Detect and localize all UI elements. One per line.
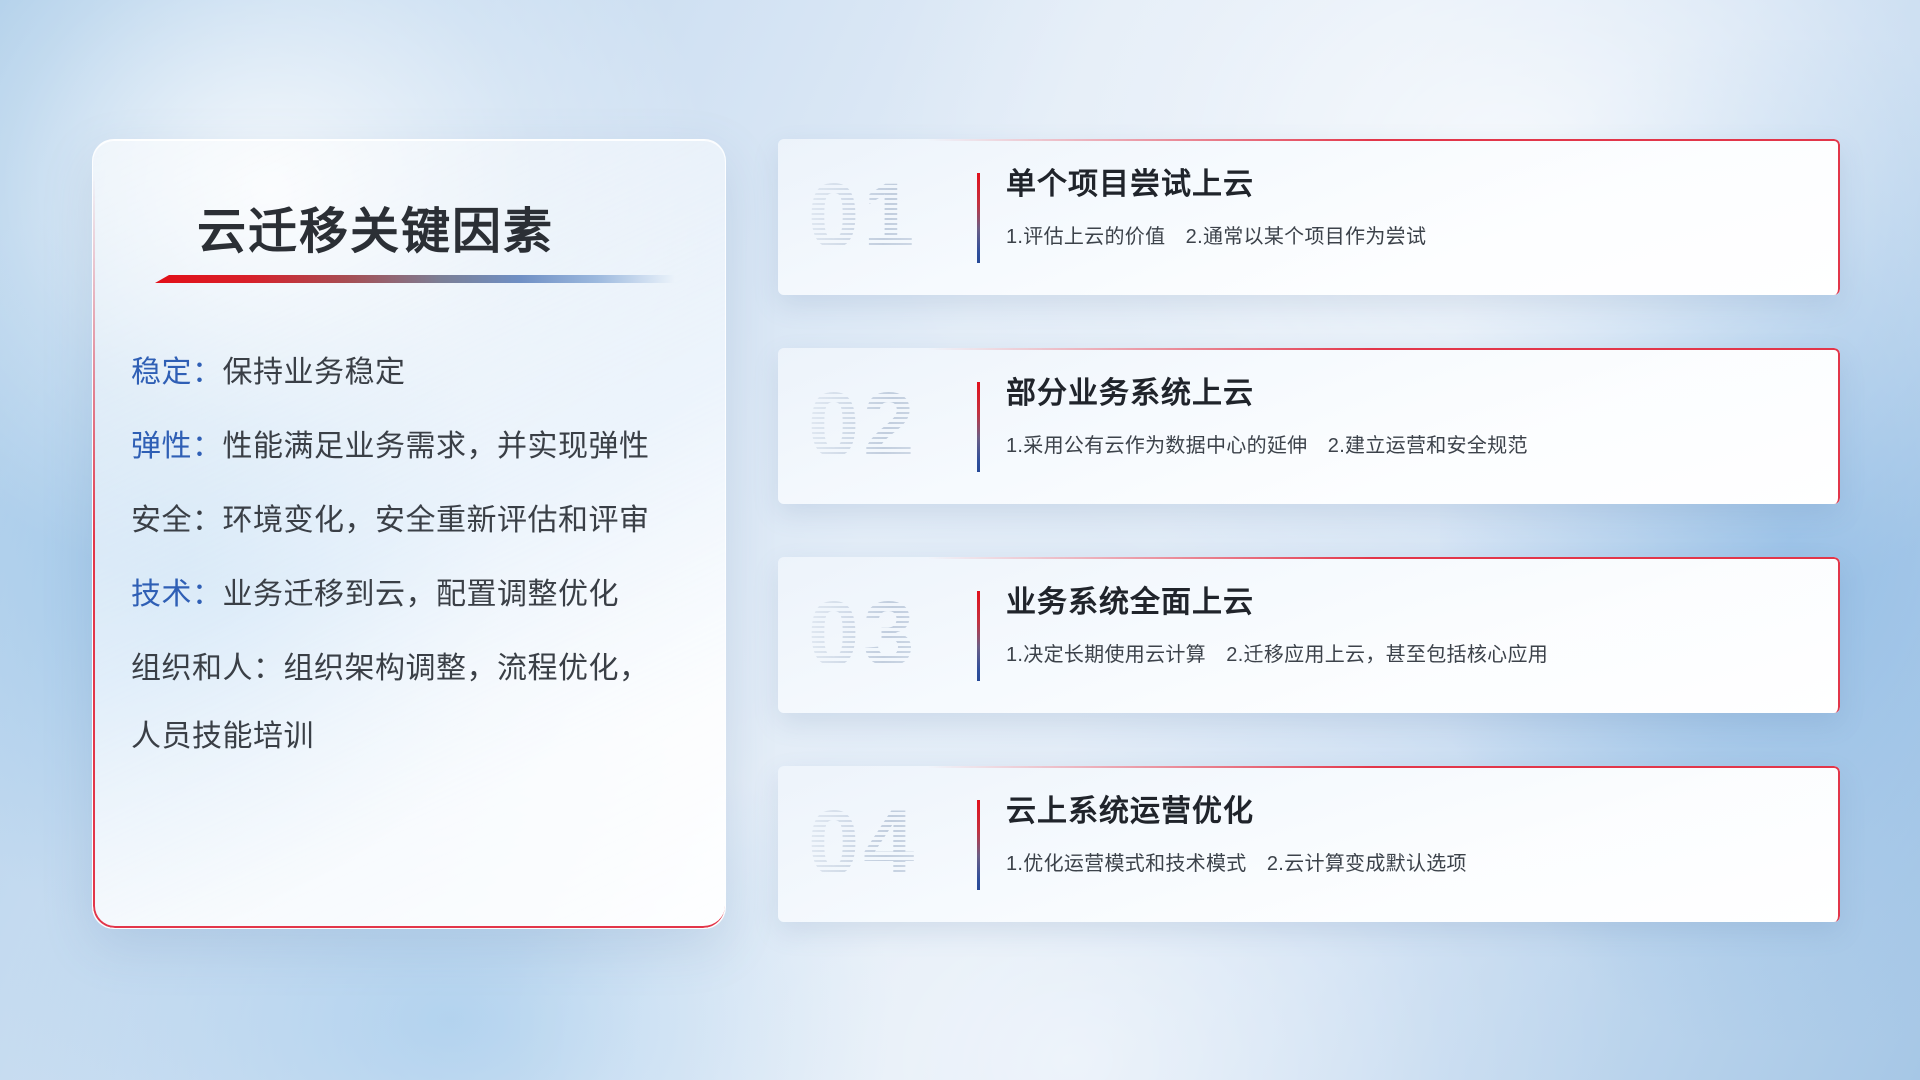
list-item-key: 弹性： [131,430,223,463]
list-item-value: 人员技能培训 [131,720,314,753]
stage-card-03[interactable]: 03 业务系统全面上云 1.决定长期使用云计算 2.迁移应用上云，甚至包括核心应… [778,557,1840,713]
stage-title: 部分业务系统上云 [1006,375,1816,413]
list-item: 技术：业务迁移到云，配置调整优化 [131,580,701,610]
stage-divider [977,173,980,263]
list-item-key: 稳定： [131,356,223,389]
list-item-value: 性能满足业务需求，并实现弹性 [223,430,650,463]
list-item-key: 组织和人： [131,652,284,685]
stage-description: 1.评估上云的价值 2.通常以某个项目作为尝试 [1006,220,1816,249]
stage-divider [977,591,980,681]
stage-body: 业务系统全面上云 1.决定长期使用云计算 2.迁移应用上云，甚至包括核心应用 [1006,584,1816,667]
key-factors-card: 云迁移关键因素 稳定：保持业务稳定 弹性：性能满足业务需求，并实现弹性 安全：环… [92,139,726,929]
stage-description: 1.决定长期使用云计算 2.迁移应用上云，甚至包括核心应用 [1006,638,1816,667]
stage-body: 云上系统运营优化 1.优化运营模式和技术模式 2.云计算变成默认选项 [1006,793,1816,876]
title-underline-gradient [155,275,675,283]
stage-card-02[interactable]: 02 部分业务系统上云 1.采用公有云作为数据中心的延伸 2.建立运营和安全规范 [778,348,1840,504]
list-item-value: 组织架构调整，流程优化， [284,652,650,685]
stage-description: 1.优化运营模式和技术模式 2.云计算变成默认选项 [1006,847,1816,876]
list-item-value: 业务迁移到云，配置调整优化 [223,578,620,611]
stage-number: 04 [808,780,988,906]
stage-divider [977,382,980,472]
stage-body: 单个项目尝试上云 1.评估上云的价值 2.通常以某个项目作为尝试 [1006,166,1816,249]
list-item-continuation: 人员技能培训 [131,722,701,752]
page-title: 云迁移关键因素 [197,192,554,263]
list-item-key: 安全： [131,504,223,537]
stage-title: 业务系统全面上云 [1006,584,1816,622]
stage-description: 1.采用公有云作为数据中心的延伸 2.建立运营和安全规范 [1006,429,1816,458]
stage-card-01[interactable]: 01 单个项目尝试上云 1.评估上云的价值 2.通常以某个项目作为尝试 [778,139,1840,295]
stage-title: 单个项目尝试上云 [1006,166,1816,204]
stage-number: 03 [808,571,988,697]
migration-stages-list: 01 单个项目尝试上云 1.评估上云的价值 2.通常以某个项目作为尝试 02 部… [778,139,1840,922]
list-item-key: 技术： [131,578,223,611]
list-item: 安全：环境变化，安全重新评估和评审 [131,506,701,536]
stage-divider [977,800,980,890]
list-item: 稳定：保持业务稳定 [131,358,701,388]
stage-title: 云上系统运营优化 [1006,793,1816,831]
list-item: 弹性：性能满足业务需求，并实现弹性 [131,432,701,462]
list-item-value: 保持业务稳定 [223,356,406,389]
stage-number: 02 [808,362,988,488]
stage-card-04[interactable]: 04 云上系统运营优化 1.优化运营模式和技术模式 2.云计算变成默认选项 [778,766,1840,922]
key-factors-list: 稳定：保持业务稳定 弹性：性能满足业务需求，并实现弹性 安全：环境变化，安全重新… [131,358,701,752]
list-item: 组织和人：组织架构调整，流程优化， [131,654,701,684]
stage-number: 01 [808,153,988,279]
list-item-value: 环境变化，安全重新评估和评审 [223,504,650,537]
stage-body: 部分业务系统上云 1.采用公有云作为数据中心的延伸 2.建立运营和安全规范 [1006,375,1816,458]
